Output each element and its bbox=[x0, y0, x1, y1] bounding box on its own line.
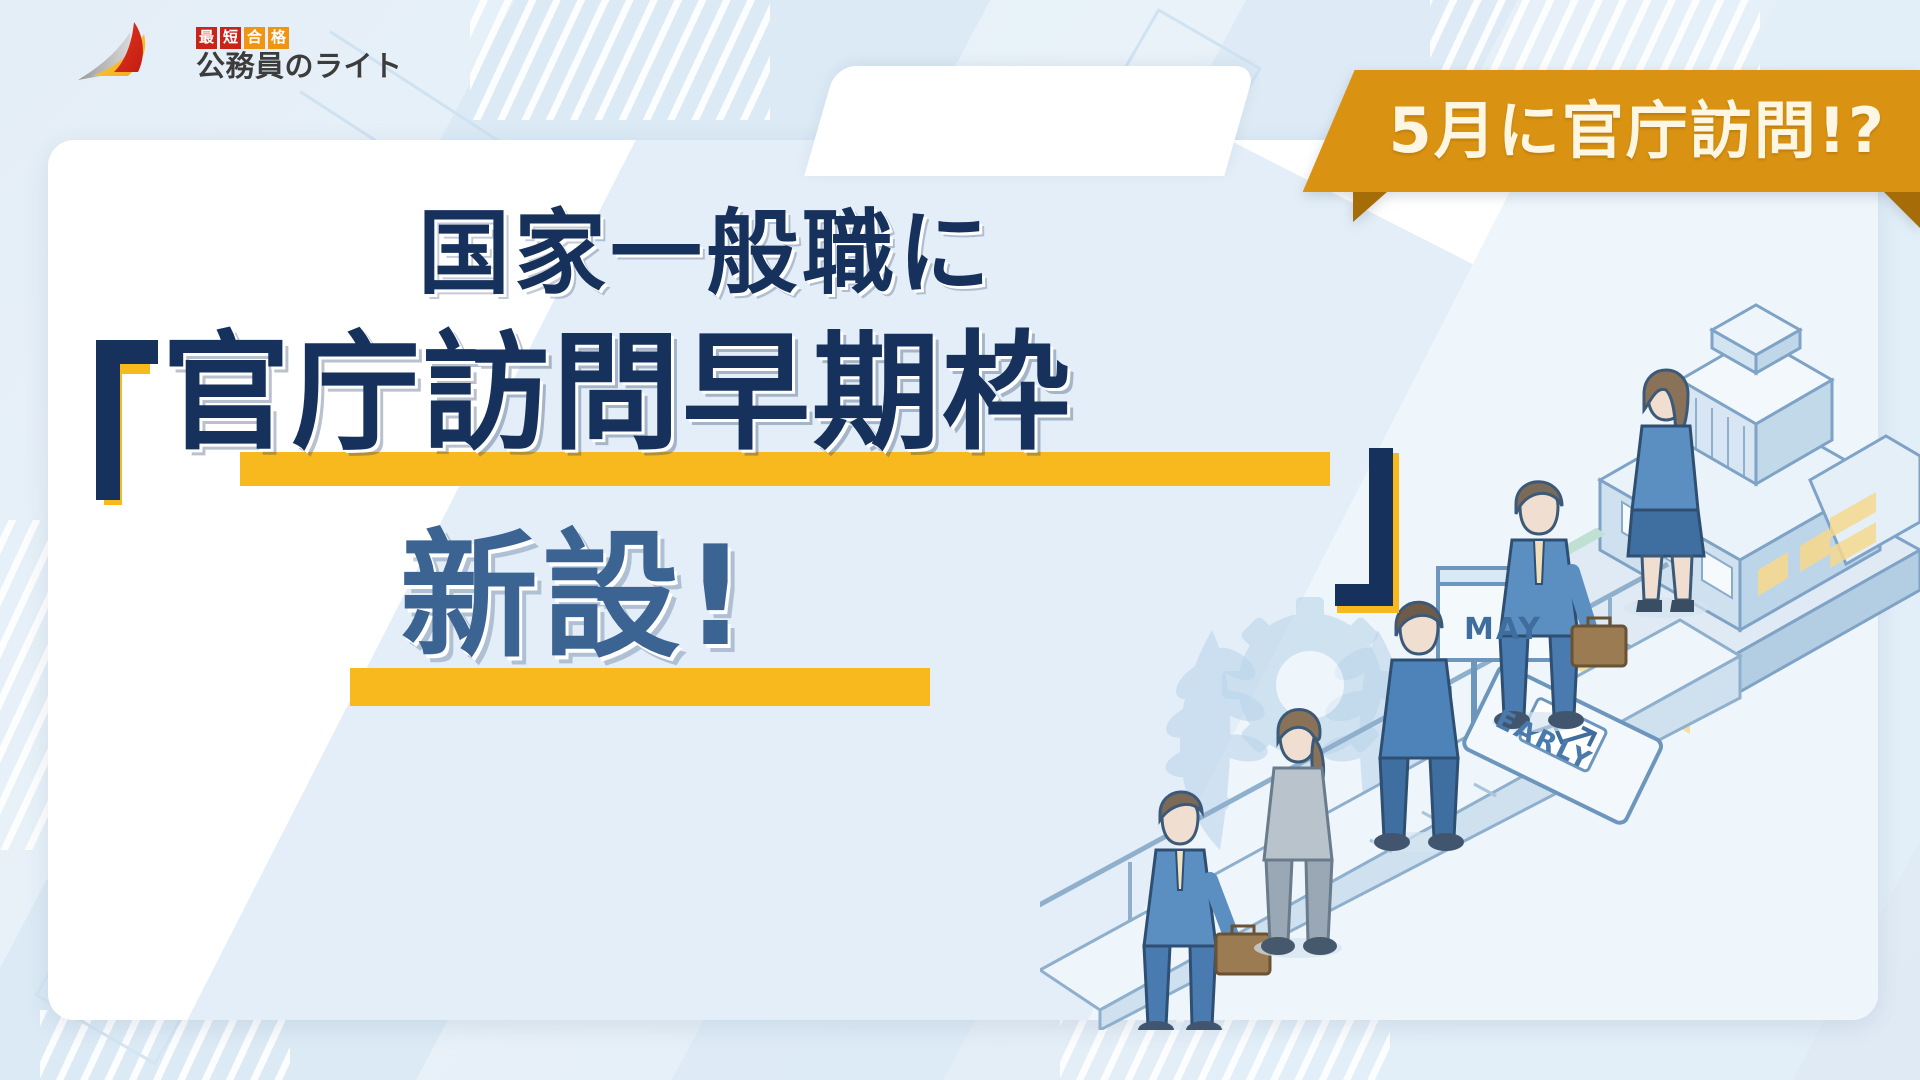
logo-badge-1: 短 bbox=[220, 27, 241, 49]
headline-line-3: 新設! bbox=[400, 528, 751, 666]
bracket-open-icon bbox=[90, 330, 160, 505]
headline-line-1: 国家一般職に bbox=[418, 208, 994, 300]
logo-badge-0: 最 bbox=[196, 27, 217, 49]
ribbon-body: 5月に官庁訪問!? bbox=[1303, 70, 1920, 192]
headline-line-3-wrap: 新設! bbox=[400, 528, 751, 666]
wing-logo-icon bbox=[70, 18, 182, 90]
logo-badge-2: 合 bbox=[244, 27, 265, 49]
bracket-close-icon bbox=[1335, 448, 1405, 623]
brand-logo[interactable]: 最 短 合 格 公務員のライト bbox=[70, 18, 403, 90]
poster-canvas: 最 短 合 格 公務員のライト 5月に官庁訪問!? bbox=[0, 0, 1920, 1080]
ribbon-text: 5月に官庁訪問!? bbox=[1389, 100, 1886, 162]
logo-brand-name: 公務員のライト bbox=[196, 52, 403, 81]
logo-badge-row: 最 短 合 格 bbox=[196, 27, 403, 49]
headline-line-2: 官庁訪問早期枠 bbox=[162, 330, 1072, 458]
headline-ribbon: 5月に官庁訪問!? bbox=[1303, 70, 1920, 192]
ribbon-fold-right bbox=[1884, 192, 1920, 228]
logo-badge-3: 格 bbox=[268, 27, 289, 49]
logo-text-block: 最 短 合 格 公務員のライト bbox=[196, 27, 403, 81]
headline-line-2-wrap: 官庁訪問早期枠 bbox=[90, 330, 1072, 458]
ribbon-fold-left bbox=[1353, 192, 1387, 222]
